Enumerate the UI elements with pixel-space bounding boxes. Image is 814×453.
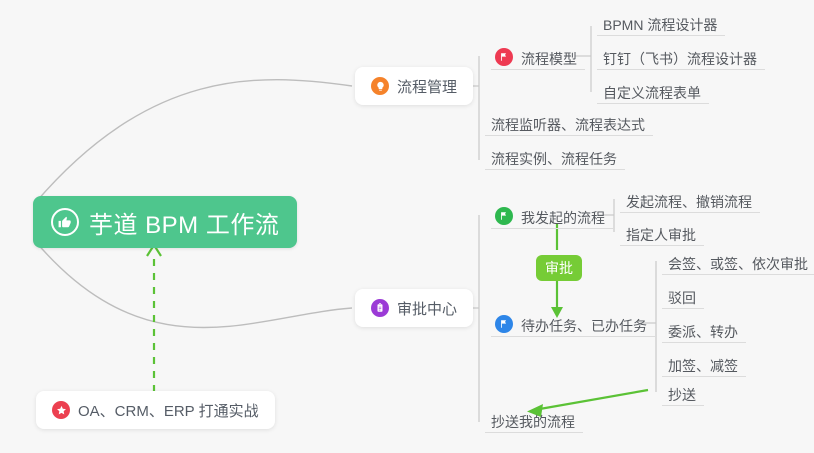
clipboard-icon (371, 299, 389, 317)
leaf-label-countersign: 会签、或签、依次审批 (668, 257, 808, 271)
leaf-dingtalk-designer[interactable]: 钉钉（飞书）流程设计器 (597, 42, 765, 70)
leaf-listener-expression[interactable]: 流程监听器、流程表达式 (485, 108, 653, 136)
leaf-label-my-initiated: 我发起的流程 (521, 211, 605, 225)
leaf-label-add-remove-sign: 加签、减签 (668, 359, 738, 373)
leaf-label-dingtalk-designer: 钉钉（飞书）流程设计器 (603, 52, 757, 66)
lightbulb-icon (371, 77, 389, 95)
leaf-todo-done[interactable]: 待办任务、已办任务 (491, 309, 655, 337)
integration-label: OA、CRM、ERP 打通实战 (78, 400, 259, 421)
integration-node[interactable]: OA、CRM、ERP 打通实战 (36, 391, 275, 429)
flag-icon-pink (495, 48, 513, 66)
edge-root-to-process-management (36, 80, 352, 202)
approval-tag[interactable]: 审批 (536, 255, 582, 281)
leaf-label-process-model: 流程模型 (521, 52, 577, 66)
leaf-add-remove-sign[interactable]: 加签、减签 (662, 349, 746, 377)
leaf-assignee-approval[interactable]: 指定人审批 (620, 218, 704, 246)
leaf-process-model[interactable]: 流程模型 (491, 42, 585, 70)
leaf-start-cancel-process[interactable]: 发起流程、撤销流程 (620, 185, 760, 213)
branch-node-approval-center[interactable]: 审批中心 (355, 289, 473, 327)
leaf-label-todo-done: 待办任务、已办任务 (521, 319, 647, 333)
leaf-custom-form[interactable]: 自定义流程表单 (597, 76, 709, 104)
star-icon (52, 401, 70, 419)
flag-icon-green (495, 207, 513, 225)
flag-icon-blue (495, 315, 513, 333)
leaf-label-listener-expression: 流程监听器、流程表达式 (491, 118, 645, 132)
leaf-label-custom-form: 自定义流程表单 (603, 86, 701, 100)
root-label: 芋道 BPM 工作流 (89, 205, 279, 240)
mindmap-canvas: 芋道 BPM 工作流 OA、CRM、ERP 打通实战 流程管理 流程模型 BPM… (0, 0, 814, 453)
branch-label-approval-center: 审批中心 (397, 298, 457, 319)
approval-tag-label: 审批 (545, 258, 573, 278)
leaf-reject[interactable]: 驳回 (662, 281, 704, 309)
leaf-label-cc: 抄送 (668, 388, 696, 402)
root-node[interactable]: 芋道 BPM 工作流 (33, 196, 297, 248)
branch-node-process-management[interactable]: 流程管理 (355, 67, 473, 105)
leaf-cc[interactable]: 抄送 (662, 378, 704, 406)
leaf-label-bpmn-designer: BPMN 流程设计器 (603, 18, 717, 32)
leaf-cc-to-me[interactable]: 抄送我的流程 (485, 405, 583, 433)
leaf-label-start-cancel-process: 发起流程、撤销流程 (626, 195, 752, 209)
leaf-bpmn-designer[interactable]: BPMN 流程设计器 (597, 8, 725, 36)
leaf-label-assignee-approval: 指定人审批 (626, 228, 696, 242)
leaf-countersign[interactable]: 会签、或签、依次审批 (662, 247, 814, 275)
leaf-delegate-transfer[interactable]: 委派、转办 (662, 315, 746, 343)
leaf-my-initiated[interactable]: 我发起的流程 (491, 201, 613, 229)
leaf-label-reject: 驳回 (668, 291, 696, 305)
leaf-label-delegate-transfer: 委派、转办 (668, 325, 738, 339)
leaf-label-cc-to-me: 抄送我的流程 (491, 415, 575, 429)
edge-root-to-approval-center (36, 242, 352, 328)
leaf-instance-task[interactable]: 流程实例、流程任务 (485, 142, 625, 170)
thumbs-up-icon (51, 208, 79, 236)
leaf-label-instance-task: 流程实例、流程任务 (491, 152, 617, 166)
branch-label-process-management: 流程管理 (397, 76, 457, 97)
